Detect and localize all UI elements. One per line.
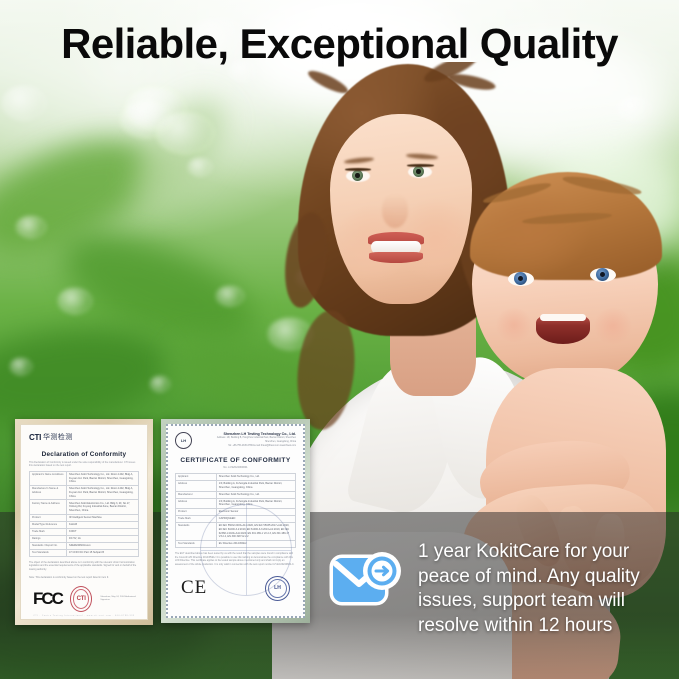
product-infographic: Reliable, Exceptional Quality CTI 华测检测 D…	[0, 0, 679, 679]
cti-logo-chinese: 华测检测	[43, 432, 73, 442]
row-key: Factory Name & Address	[30, 500, 67, 514]
row-key: Applicant's Name & Address	[30, 471, 67, 485]
row-key: Trade Mark	[30, 528, 67, 535]
row-value: 1/F, Building A, Fuhongda Industrial Par…	[216, 498, 295, 509]
baby-cheek-left	[494, 308, 534, 342]
row-key: Product	[176, 509, 217, 516]
table-row: RatingsDC 5V, 1A	[30, 535, 139, 542]
lh-seal-text: LH	[274, 585, 281, 591]
baby-cheek-right	[592, 308, 634, 344]
table-row: StandardsEN IEC 55032:2015+A11:2020, EN …	[176, 523, 296, 541]
row-value: 1/F, Building A, Fuhongda Industrial Par…	[216, 481, 295, 492]
table-row: Address1/F, Building A, Fuhongda Industr…	[176, 498, 296, 509]
row-value: 47 CFR FCC Part 15 Subpart B	[67, 549, 139, 556]
row-value: CAPIDQUEEN	[216, 516, 295, 523]
left-cert-footer-note: The object of the declaration described …	[29, 561, 139, 572]
row-key: Model/Type Reference	[30, 521, 67, 528]
cti-seal-icon: CTI	[70, 586, 92, 612]
right-cert-title: CERTIFICATE OF CONFORMITY	[175, 457, 296, 464]
table-row: Trade MarkCAPIDQUEEN	[176, 516, 296, 523]
hair-wisp-3	[306, 67, 351, 97]
fcc-icon: FCC	[33, 589, 62, 609]
woman-lash-left	[345, 168, 371, 171]
woman-pupil-right	[416, 169, 421, 174]
woman-nose	[382, 194, 408, 228]
row-key: Trade Mark	[176, 516, 217, 523]
row-key: Test Standards	[176, 541, 217, 548]
row-key: Standards	[176, 523, 217, 541]
bokeh-14	[150, 376, 170, 392]
row-key: Test Standards	[30, 549, 67, 556]
woman-pupil-left	[355, 173, 360, 178]
row-key: Address	[176, 498, 217, 509]
row-value: SZEM240600xxxxx	[67, 542, 139, 549]
page-title: Reliable, Exceptional Quality	[0, 20, 679, 68]
row-value: KOKIT	[67, 528, 139, 535]
left-cert-title: Declaration of Conformity	[29, 451, 139, 458]
table-row: ManufacturerShenzhen Kokit Technology Co…	[176, 491, 296, 498]
row-key: Applicant	[176, 474, 217, 481]
table-row: Standards / Report No.SZEM240600xxxxx	[30, 542, 139, 549]
lh-badge-text: LH	[181, 438, 186, 443]
table-row: Test StandardsEU Directive 2014/30/EU	[176, 541, 296, 548]
bokeh-13	[10, 358, 32, 375]
row-value: Shenzhen Kokit Technology Co., Ltd.	[216, 491, 295, 498]
row-value: Electronic Sensor	[216, 509, 295, 516]
cti-seal-text: CTI	[77, 596, 86, 602]
right-cert-issuer-line-2: Tel: +86-755-2345-6789 E-mail: lhtest@lh…	[196, 445, 296, 449]
baby-pupil-right	[600, 272, 605, 277]
left-cert-table: Applicant's Name & AddressShenzhen Kokit…	[29, 471, 139, 557]
bokeh-5	[124, 86, 186, 130]
row-key: Product	[30, 514, 67, 521]
row-value: Shenzhen Kokit Technology Co., Ltd.	[216, 474, 295, 481]
right-cert-number: No. LCS2024060001	[175, 466, 296, 469]
table-row: Model/Type ReferenceKokit-B	[30, 521, 139, 528]
woman-lash-right	[407, 164, 434, 167]
row-key: Address	[176, 481, 217, 492]
certificate-declaration-of-conformity[interactable]: CTI 华测检测 Declaration of Conformity This …	[15, 419, 153, 625]
row-value: EU Directive 2014/30/EU	[216, 541, 295, 548]
row-key: Ratings	[30, 535, 67, 542]
row-value: EN IEC 55032:2015+A11:2020, EN IEC 55035…	[216, 523, 295, 541]
table-row: Test Standards47 CFR FCC Part 15 Subpart…	[30, 549, 139, 556]
certificate-of-conformity[interactable]: LH Shenzhen LH Testing Technology Co., L…	[161, 419, 310, 623]
baby-teeth	[540, 314, 586, 321]
cti-logo: CTI 华测检测	[29, 432, 139, 442]
baby-pupil-left	[518, 276, 523, 281]
left-cert-marks: FCC CTI Shenzhen, May 24, 2024 Authorize…	[29, 586, 139, 612]
cti-logo-mark: CTI	[29, 433, 41, 442]
bokeh-6	[2, 86, 46, 120]
table-row: ProductElectronic Sensor	[176, 509, 296, 516]
bokeh-8	[16, 216, 46, 238]
right-cert-footer: The EUT described above has been tested …	[175, 552, 296, 566]
row-key: Standards / Report No.	[30, 542, 67, 549]
warranty-text: 1 year KokitCare for your peace of mind.…	[418, 540, 654, 638]
row-key: Manufacturer's Name & Address	[30, 486, 67, 500]
row-value: Shenzhen Kokit Technology Co., Ltd. Room…	[67, 486, 139, 500]
left-cert-intro: This Declaration of Conformity is issued…	[29, 461, 139, 468]
row-key: Manufacturer	[176, 491, 217, 498]
lh-badge-icon: LH	[175, 432, 192, 449]
envelope-arrow-icon	[329, 544, 401, 616]
table-row: Manufacturer's Name & AddressShenzhen Ko…	[30, 486, 139, 500]
bokeh-10	[216, 286, 244, 306]
right-cert-table: ApplicantShenzhen Kokit Technology Co., …	[175, 473, 296, 548]
table-row: Address1/F, Building A, Fuhongda Industr…	[176, 481, 296, 492]
table-row: Trade MarkKOKIT	[30, 528, 139, 535]
table-row: ProductIR Intelligent Sensor Machine	[30, 514, 139, 521]
row-value: IR Intelligent Sensor Machine	[67, 514, 139, 521]
ce-mark-icon: CE	[181, 577, 207, 599]
row-value: Shenzhen Kokit Technology Co., Ltd. Room…	[67, 471, 139, 485]
left-cert-bottom-strip: CTI · Centre Testing International · www…	[29, 615, 139, 617]
table-row: Factory Name & AddressShenzhen Kokit Ele…	[30, 500, 139, 514]
left-cert-signature: Shenzhen, May 24, 2024 Authorized Signat…	[100, 596, 139, 603]
bokeh-9	[58, 288, 92, 314]
row-value: Kokit-B	[67, 521, 139, 528]
bokeh-7	[188, 158, 212, 176]
row-value: DC 5V, 1A	[67, 535, 139, 542]
left-cert-footer-note-2: Note: This declaration is conformity bas…	[29, 576, 139, 580]
table-row: ApplicantShenzhen Kokit Technology Co., …	[176, 474, 296, 481]
woman-lower-lip	[369, 252, 423, 263]
lh-seal-icon: LH	[265, 576, 290, 601]
table-row: Applicant's Name & AddressShenzhen Kokit…	[30, 471, 139, 485]
right-cert-marks: CE LH	[175, 576, 296, 601]
row-value: Shenzhen Kokit Electronics Co., Ltd. Bld…	[67, 500, 139, 514]
